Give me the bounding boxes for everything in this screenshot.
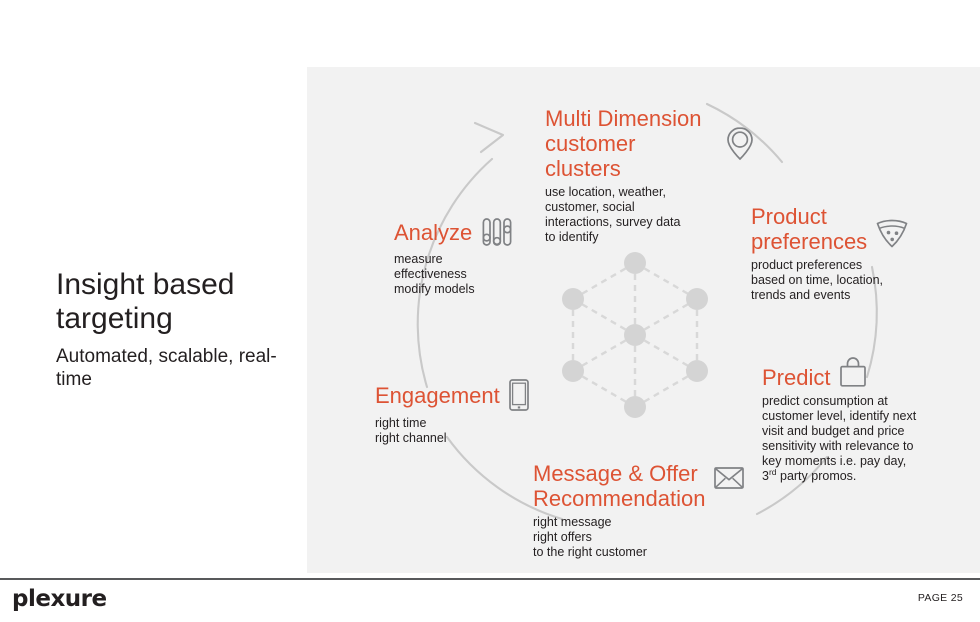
node-header: Predict bbox=[762, 356, 962, 390]
node-description: product preferences based on time, locat… bbox=[751, 258, 941, 303]
network-hexagon-graphic bbox=[545, 240, 725, 420]
node-title: Message & Offer Recommendation bbox=[533, 461, 705, 511]
node-description: predict consumption at customer level, i… bbox=[762, 394, 962, 484]
node-description-post: party promos. bbox=[777, 469, 857, 483]
envelope-icon bbox=[713, 465, 745, 491]
node-header: Product preferences bbox=[751, 204, 941, 254]
sliders-icon bbox=[480, 216, 514, 248]
footer-divider bbox=[0, 578, 980, 580]
node-description-superscript: rd bbox=[769, 467, 777, 477]
title-block: Insight based targeting Automated, scala… bbox=[56, 268, 306, 391]
arrowhead-icon bbox=[475, 123, 503, 152]
page-title-line1: Insight based bbox=[56, 268, 306, 302]
node-title: Analyze bbox=[394, 220, 472, 245]
cycle-node-product-preferences: Product preferences product preferences … bbox=[751, 204, 941, 303]
cycle-node-multi-dimension: Multi Dimension customer clusters use lo… bbox=[545, 106, 755, 245]
cycle-node-message-offer: Message & Offer Recommendation right mes… bbox=[533, 461, 748, 560]
page-title-line2: targeting bbox=[56, 302, 306, 336]
node-title: Product preferences bbox=[751, 204, 867, 254]
node-description: right time right channel bbox=[375, 416, 555, 446]
node-header: Multi Dimension customer clusters bbox=[545, 106, 755, 181]
pizza-slice-icon bbox=[875, 218, 909, 248]
cycle-node-predict: Predict predict consumption at customer … bbox=[762, 356, 962, 484]
shopping-bag-icon bbox=[838, 356, 868, 388]
cycle-node-analyze: Analyze measure effectiveness modify mod… bbox=[394, 216, 554, 297]
cycle-node-engagement: Engagement right time right channel bbox=[375, 378, 555, 446]
smartphone-icon bbox=[508, 378, 530, 412]
node-header: Analyze bbox=[394, 216, 554, 248]
node-title: Predict bbox=[762, 365, 830, 390]
node-description: use location, weather, customer, social … bbox=[545, 185, 755, 245]
plexure-logo: plexure bbox=[12, 586, 107, 612]
slide-canvas: Multi Dimension customer clusters use lo… bbox=[0, 0, 980, 622]
page-subtitle: Automated, scalable, real-time bbox=[56, 345, 306, 391]
node-description: right message right offers to the right … bbox=[533, 515, 748, 560]
node-title: Multi Dimension customer clusters bbox=[545, 106, 717, 181]
page-number: PAGE 25 bbox=[918, 592, 963, 604]
location-pin-icon bbox=[725, 126, 755, 162]
node-header: Message & Offer Recommendation bbox=[533, 461, 748, 511]
node-title: Engagement bbox=[375, 383, 500, 408]
node-description: measure effectiveness modify models bbox=[394, 252, 554, 297]
node-header: Engagement bbox=[375, 378, 555, 412]
